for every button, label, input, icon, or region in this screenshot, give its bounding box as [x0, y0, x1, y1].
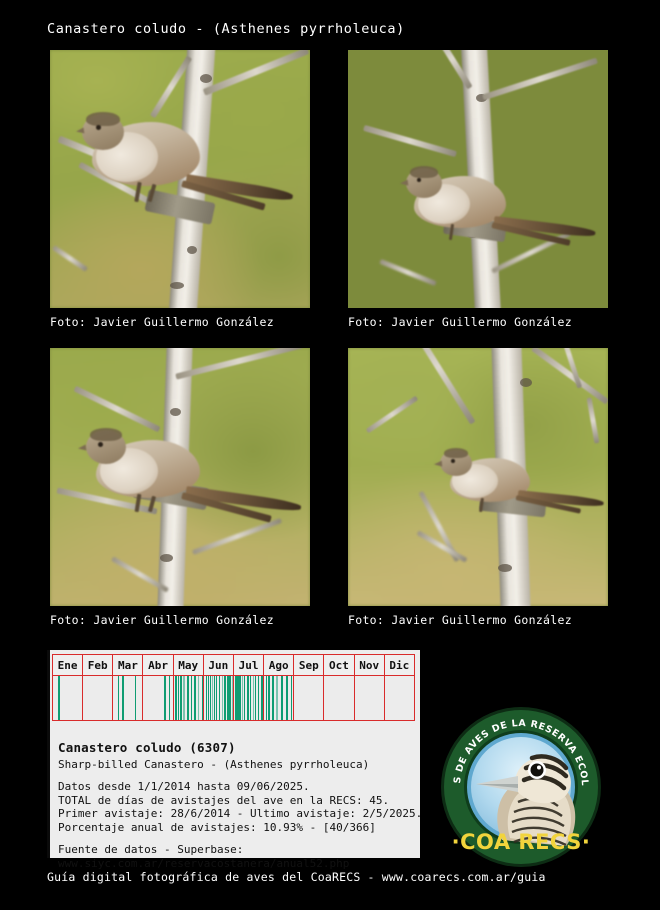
month-marks-jun [203, 676, 233, 721]
photo-cell-2: Foto: Javier Guillermo González [348, 50, 608, 329]
sighting-tick [258, 676, 260, 720]
month-header-ene: Ene [53, 655, 83, 676]
sighting-tick [242, 676, 244, 720]
sighting-tick [261, 676, 263, 720]
sighting-tick [135, 676, 137, 720]
sighting-tick [198, 676, 200, 720]
photo-4[interactable] [348, 348, 608, 606]
photo-caption: Foto: Javier Guillermo González [348, 315, 608, 329]
photo-cell-4: Foto: Javier Guillermo González [348, 348, 608, 627]
sighting-tick [180, 676, 182, 720]
data-range-line: Datos desde 1/1/2014 hasta 09/06/2025. [58, 780, 420, 794]
photo-grid: Foto: Javier Guillermo González [50, 50, 610, 630]
sighting-tick [222, 676, 224, 720]
photo-cell-1: Foto: Javier Guillermo González [50, 50, 310, 329]
sighting-tick [276, 676, 278, 720]
sighting-tick [291, 676, 293, 720]
sighting-tick [272, 676, 274, 720]
species-details: Canastero coludo (6307) Sharp-billed Can… [50, 732, 420, 871]
sighting-tick [255, 676, 257, 720]
sighting-tick [250, 676, 252, 720]
month-marks-ago [264, 676, 294, 721]
sighting-tick [187, 676, 189, 720]
calendar-table: Ene Feb Mar Abr May Jun Jul Ago Sep Oct … [52, 654, 415, 721]
sighting-tick [227, 676, 229, 720]
sighting-tick [164, 676, 166, 720]
sighting-tick [253, 676, 255, 720]
photo-3[interactable] [50, 348, 310, 606]
sighting-tick [194, 676, 196, 720]
month-header-sep: Sep [294, 655, 324, 676]
sighting-tick [229, 676, 231, 720]
sighting-tick [281, 676, 283, 720]
month-marks-abr [143, 676, 173, 721]
species-name-code: Canastero coludo (6307) [58, 740, 420, 755]
coarecs-logo[interactable]: CLUB DE OBSERVADORES DE AVES DE LA RESER… [440, 706, 602, 868]
annual-percent-line: Porcentaje anual de avistajes: 10.93% - … [58, 821, 420, 835]
month-header-dic: Dic [384, 655, 414, 676]
sighting-tick [178, 676, 180, 720]
month-marks-oct [324, 676, 354, 721]
sighting-tick [175, 676, 177, 720]
sighting-tick [219, 676, 221, 720]
sighting-tick [244, 676, 246, 720]
photo-caption: Foto: Javier Guillermo González [50, 315, 310, 329]
sighting-tick [239, 676, 241, 720]
photo-2[interactable] [348, 50, 608, 308]
sighting-tick [247, 676, 249, 720]
sighting-tick [183, 676, 185, 720]
photo-caption: Foto: Javier Guillermo González [50, 613, 310, 627]
calendar-marks-row [53, 676, 415, 721]
species-english-name: Sharp-billed Canastero - (Asthenes pyrrh… [58, 758, 420, 771]
total-days-line: TOTAL de días de avistajes del ave en la… [58, 794, 420, 808]
month-header-feb: Feb [83, 655, 113, 676]
footer-text: Guía digital fotográfica de aves del Coa… [47, 870, 546, 884]
month-marks-ene [53, 676, 83, 721]
first-last-sighting-line: Primer avistaje: 28/6/2014 - Ultimo avis… [58, 807, 420, 821]
photo-caption: Foto: Javier Guillermo González [348, 613, 608, 627]
month-header-jul: Jul [233, 655, 263, 676]
logo-name: ·COA RECS· [452, 830, 591, 854]
month-marks-may [173, 676, 203, 721]
month-header-jun: Jun [203, 655, 233, 676]
sighting-tick [122, 676, 124, 720]
page-title: Canastero coludo - (Asthenes pyrrholeuca… [47, 21, 405, 37]
sighting-tick [169, 676, 171, 720]
species-info-panel: Ene Feb Mar Abr May Jun Jul Ago Sep Oct … [47, 650, 420, 858]
month-marks-sep [294, 676, 324, 721]
sighting-tick [286, 676, 288, 720]
month-header-mar: Mar [113, 655, 143, 676]
month-marks-nov [354, 676, 384, 721]
month-header-ago: Ago [264, 655, 294, 676]
sightings-calendar-chart: Ene Feb Mar Abr May Jun Jul Ago Sep Oct … [52, 654, 416, 732]
month-header-abr: Abr [143, 655, 173, 676]
sighting-tick [118, 676, 120, 720]
sighting-tick [268, 676, 270, 720]
month-header-may: May [173, 655, 203, 676]
sighting-tick [224, 676, 226, 720]
month-header-oct: Oct [324, 655, 354, 676]
month-marks-feb [83, 676, 113, 721]
data-source-label: Fuente de datos - Superbase: [58, 843, 420, 857]
photo-1[interactable] [50, 50, 310, 308]
month-header-nov: Nov [354, 655, 384, 676]
sighting-tick [191, 676, 193, 720]
sighting-tick [216, 676, 218, 720]
month-marks-mar [113, 676, 143, 721]
photo-cell-3: Foto: Javier Guillermo González [50, 348, 310, 627]
data-source-url[interactable]: www.siyc.com.ar/reservacostanera/anual52… [58, 857, 420, 871]
month-marks-dic [384, 676, 414, 721]
calendar-header-row: Ene Feb Mar Abr May Jun Jul Ago Sep Oct … [53, 655, 415, 676]
month-marks-jul [233, 676, 263, 721]
sighting-tick [266, 676, 268, 720]
sighting-tick [58, 676, 60, 720]
